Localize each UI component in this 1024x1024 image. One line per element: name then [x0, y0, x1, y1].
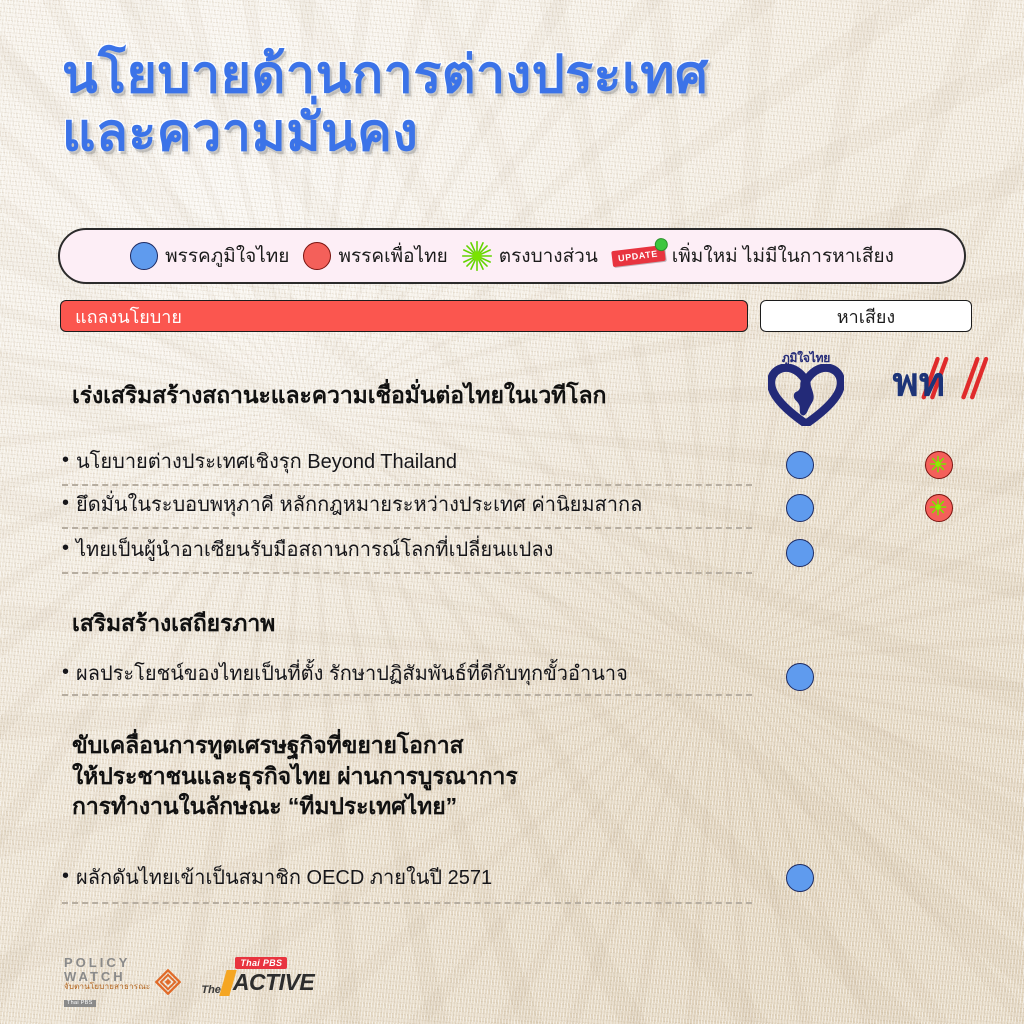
- row-label-1-3: ไทยเป็นผู้นำอาเซียนรับมือสถานการณ์โลกที่…: [62, 538, 752, 563]
- page-title: นโยบายด้านการต่างประเทศ และความมั่นคง: [62, 46, 962, 162]
- legend-label-bhumjaithai: พรรคภูมิใจไทย: [165, 241, 289, 271]
- tab-policy-statement[interactable]: แถลงนโยบาย: [60, 300, 748, 332]
- legend-item-bhumjaithai: พรรคภูมิใจไทย: [130, 241, 289, 271]
- marker-bhumjaithai-3-1: [786, 864, 812, 890]
- legend-item-pheuthai: พรรคเพื่อไทย: [303, 241, 447, 271]
- row-label-2-1: ผลประโยชน์ของไทยเป็นที่ตั้ง รักษาปฏิสัมพ…: [62, 662, 752, 687]
- marker-bhumjaithai-1-3: [786, 539, 812, 565]
- the-active-word: ACTIVE: [233, 969, 314, 996]
- party-name-pheuthai: พท: [892, 360, 945, 404]
- policy-watch-logo: POLICY WATCH จับตานโยบายสาธารณะ Thai PBS: [64, 956, 181, 1008]
- the-active-logo: The ACTIVE Thai PBS: [201, 969, 314, 996]
- table-row: ผลักดันไทยเข้าเป็นสมาชิก OECD ภายในปี 25…: [62, 866, 752, 891]
- row-separator: [62, 902, 752, 904]
- policy-watch-subtitle: จับตานโยบายสาธารณะ: [64, 983, 150, 991]
- red-circle-icon: [303, 242, 331, 270]
- legend-label-pheuthai: พรรคเพื่อไทย: [338, 241, 447, 271]
- section-heading-1: เร่งเสริมสร้างสถานะและความเชื่อมั่นต่อไท…: [72, 380, 752, 411]
- blue-circle-icon: [786, 864, 814, 892]
- update-badge-text: UPDATE: [617, 249, 658, 264]
- legend-item-new: UPDATE เพิ่มใหม่ ไม่มีในการหาเสียง: [612, 241, 894, 271]
- blue-circle-icon: [786, 539, 814, 567]
- policy-watch-thaipbs-tag: Thai PBS: [64, 1000, 96, 1008]
- table-row: ผลประโยชน์ของไทยเป็นที่ตั้ง รักษาปฏิสัมพ…: [62, 662, 752, 687]
- the-active-thaipbs-badge: Thai PBS: [235, 957, 287, 969]
- footer-logos: POLICY WATCH จับตานโยบายสาธารณะ Thai PBS…: [64, 956, 314, 1008]
- row-separator: [62, 572, 752, 574]
- marker-bhumjaithai-2-1: [786, 663, 812, 689]
- marker-bhumjaithai-1-2: [786, 494, 812, 520]
- green-starburst-icon: [929, 455, 947, 473]
- row-label-1-2: ยึดมั่นในระบอบพหุภาคี หลักกฎหมายระหว่างป…: [62, 493, 752, 518]
- table-row: นโยบายต่างประเทศเชิงรุก Beyond Thailand: [62, 450, 752, 475]
- section-heading-3-line-2: ให้ประชาชนและธุรกิจไทย ผ่านการบูรณาการ: [72, 761, 752, 792]
- legend-label-partial: ตรงบางส่วน: [499, 241, 598, 271]
- title-line-2: และความมั่นคง: [62, 104, 962, 162]
- tab-campaign[interactable]: หาเสียง: [760, 300, 972, 332]
- party-logo-bhumjaithai: ภูมิใจไทย: [766, 352, 846, 431]
- section-heading-3-line-1: ขับเคลื่อนการทูตเศรษฐกิจที่ขยายโอกาส: [72, 730, 752, 761]
- tab-bar: แถลงนโยบาย หาเสียง: [60, 300, 972, 332]
- section-heading-3-line-3: การทำงานในลักษณะ “ทีมประเทศไทย”: [72, 791, 752, 822]
- marker-pheuthai-1-1: [925, 451, 951, 477]
- tab-campaign-label: หาเสียง: [837, 302, 895, 331]
- row-label-3-1: ผลักดันไทยเข้าเป็นสมาชิก OECD ภายในปี 25…: [62, 866, 752, 891]
- legend-label-new: เพิ่มใหม่ ไม่มีในการหาเสียง: [672, 241, 894, 271]
- table-row: ไทยเป็นผู้นำอาเซียนรับมือสถานการณ์โลกที่…: [62, 538, 752, 563]
- diamond-icon: [155, 969, 181, 995]
- blue-circle-icon: [130, 242, 158, 270]
- tab-policy-statement-label: แถลงนโยบาย: [75, 302, 182, 331]
- row-separator: [62, 484, 752, 486]
- blue-circle-icon: [786, 451, 814, 479]
- title-line-1: นโยบายด้านการต่างประเทศ: [62, 46, 962, 104]
- marker-pheuthai-1-2: [925, 494, 951, 520]
- green-starburst-icon: [462, 241, 492, 271]
- party-logo-pheuthai: พท: [886, 352, 996, 411]
- section-heading-3: ขับเคลื่อนการทูตเศรษฐกิจที่ขยายโอกาส ให้…: [72, 730, 752, 822]
- table-row: ยึดมั่นในระบอบพหุภาคี หลักกฎหมายระหว่างป…: [62, 493, 752, 518]
- green-starburst-icon: [929, 498, 947, 516]
- policy-watch-wordmark: POLICY WATCH จับตานโยบายสาธารณะ Thai PBS: [64, 956, 150, 1008]
- row-label-1-1: นโยบายต่างประเทศเชิงรุก Beyond Thailand: [62, 450, 752, 475]
- blue-circle-icon: [786, 663, 814, 691]
- policy-watch-line-1: POLICY: [64, 956, 150, 970]
- pheuthai-logo-icon: พท: [889, 352, 993, 406]
- row-separator: [62, 527, 752, 529]
- marker-bhumjaithai-1-1: [786, 451, 812, 477]
- blue-circle-icon: [786, 494, 814, 522]
- legend-item-partial: ตรงบางส่วน: [462, 241, 598, 271]
- row-separator: [62, 694, 752, 696]
- update-badge-icon: UPDATE: [611, 245, 665, 267]
- party-name-bhumjaithai: ภูมิใจไทย: [766, 352, 846, 364]
- legend-bar: พรรคภูมิใจไทย พรรคเพื่อไทย ตรงบางส่วน UP…: [58, 228, 966, 284]
- bhumjaithai-heart-icon: [768, 364, 844, 426]
- the-active-the: The: [201, 984, 221, 996]
- section-heading-2: เสริมสร้างเสถียรภาพ: [72, 608, 752, 639]
